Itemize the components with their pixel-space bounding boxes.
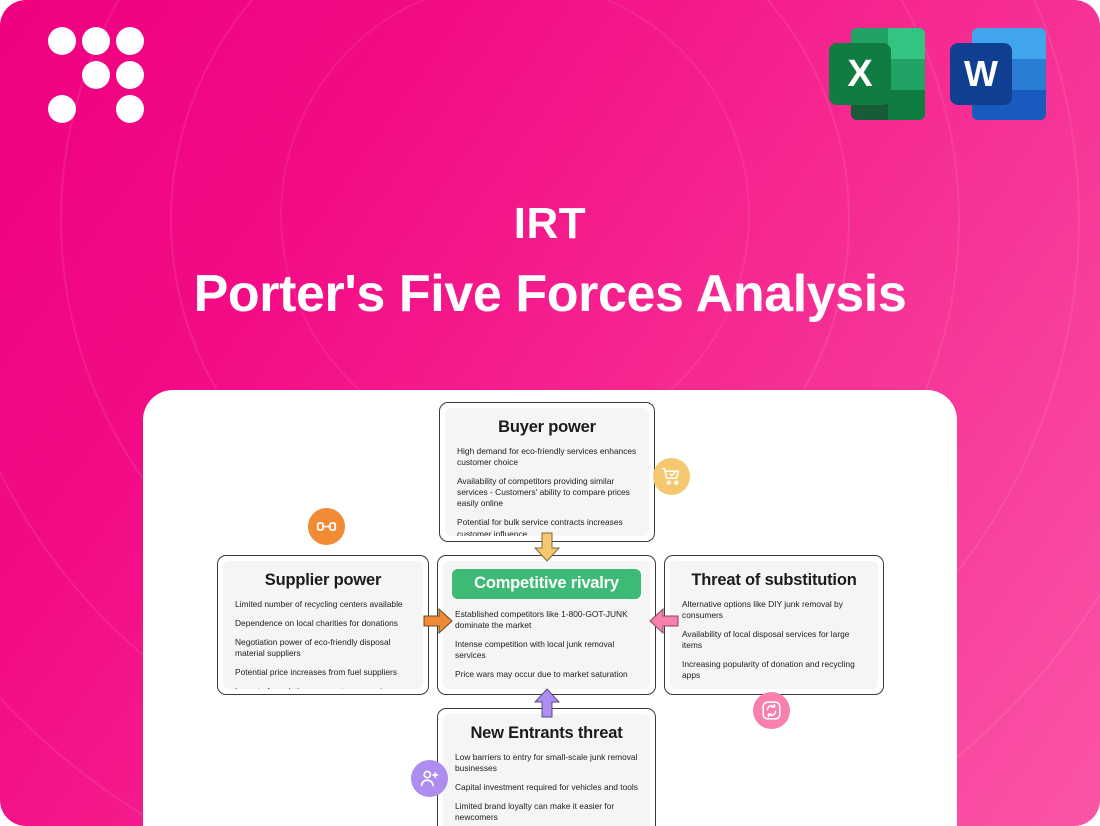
seven-dot-grid-logo bbox=[48, 27, 144, 123]
slide-canvas: X W IRT Porter's Five Forces Analysis Bu… bbox=[0, 0, 1100, 826]
force-title: Supplier power bbox=[235, 571, 411, 590]
logo-dot bbox=[82, 27, 110, 55]
content-card: Buyer power High demand for eco-friendly… bbox=[143, 390, 957, 826]
logo-dot bbox=[116, 61, 144, 89]
force-box-competitive-rivalry[interactable]: Competitive rivalry Established competit… bbox=[437, 555, 656, 695]
force-item: Dependence on local charities for donati… bbox=[235, 618, 411, 629]
logo-dot bbox=[48, 95, 76, 123]
word-icon[interactable]: W bbox=[950, 26, 1046, 122]
force-item: Potential price increases from fuel supp… bbox=[235, 667, 411, 678]
arrow-down-icon bbox=[534, 532, 560, 562]
force-item: Increasing popularity of donation and re… bbox=[682, 659, 866, 681]
force-box-new-entrants-threat[interactable]: New Entrants threat Low barriers to entr… bbox=[437, 708, 656, 826]
force-box-buyer-power[interactable]: Buyer power High demand for eco-friendly… bbox=[439, 402, 655, 542]
force-item: Capital investment required for vehicles… bbox=[455, 782, 638, 793]
arrow-up-icon bbox=[534, 688, 560, 718]
page-subtitle: IRT bbox=[0, 200, 1100, 248]
porters-five-forces-diagram: Buyer power High demand for eco-friendly… bbox=[143, 390, 957, 826]
force-title: Buyer power bbox=[457, 418, 637, 437]
sync-icon[interactable] bbox=[753, 692, 790, 729]
title-block: IRT Porter's Five Forces Analysis bbox=[0, 200, 1100, 327]
force-item: Low barriers to entry for small-scale ju… bbox=[455, 752, 638, 774]
force-item-list: Low barriers to entry for small-scale ju… bbox=[455, 752, 638, 826]
logo-dot bbox=[82, 61, 110, 89]
page-title: Porter's Five Forces Analysis bbox=[0, 262, 1100, 327]
force-item: High demand for eco-friendly services en… bbox=[457, 446, 637, 468]
force-box-supplier-power[interactable]: Supplier power Limited number of recycli… bbox=[217, 555, 429, 695]
excel-letter: X bbox=[829, 43, 891, 105]
force-item: Availability of competitors providing si… bbox=[457, 476, 637, 509]
force-item: Negotiation power of eco-friendly dispos… bbox=[235, 637, 411, 659]
force-item-list: Established competitors like 1-800-GOT-J… bbox=[455, 609, 638, 689]
force-item: Limited number of recycling centers avai… bbox=[235, 599, 411, 610]
force-box-threat-of-substitution[interactable]: Threat of substitution Alternative optio… bbox=[664, 555, 884, 695]
arrow-left-icon bbox=[649, 608, 679, 634]
logo-dot-empty bbox=[48, 61, 76, 89]
logo-dot-empty bbox=[82, 95, 110, 123]
shopping-cart-icon[interactable] bbox=[653, 458, 690, 495]
excel-icon[interactable]: X bbox=[829, 26, 925, 122]
force-item-list: High demand for eco-friendly services en… bbox=[457, 446, 637, 536]
force-item: Limited brand loyalty can make it easier… bbox=[455, 801, 638, 823]
force-item: Intense competition with local junk remo… bbox=[455, 639, 638, 661]
force-item: Availability of local disposal services … bbox=[682, 629, 866, 651]
link-icon[interactable] bbox=[308, 508, 345, 545]
word-letter: W bbox=[950, 43, 1012, 105]
logo-dot bbox=[116, 95, 144, 123]
logo-dot bbox=[48, 27, 76, 55]
force-title: New Entrants threat bbox=[455, 724, 638, 743]
force-item: Established competitors like 1-800-GOT-J… bbox=[455, 609, 638, 631]
logo-dot bbox=[116, 27, 144, 55]
force-item: Impact of regulations on waste processin… bbox=[235, 686, 411, 689]
force-title: Threat of substitution bbox=[682, 571, 866, 590]
force-item-list: Limited number of recycling centers avai… bbox=[235, 599, 411, 689]
force-item: Alternative options like DIY junk remova… bbox=[682, 599, 866, 621]
force-title: Competitive rivalry bbox=[452, 569, 641, 599]
force-item-list: Alternative options like DIY junk remova… bbox=[682, 599, 866, 689]
arrow-right-icon bbox=[423, 608, 453, 634]
export-format-icons: X W bbox=[829, 26, 1046, 122]
force-item: Price wars may occur due to market satur… bbox=[455, 669, 638, 680]
add-user-icon[interactable] bbox=[411, 760, 448, 797]
